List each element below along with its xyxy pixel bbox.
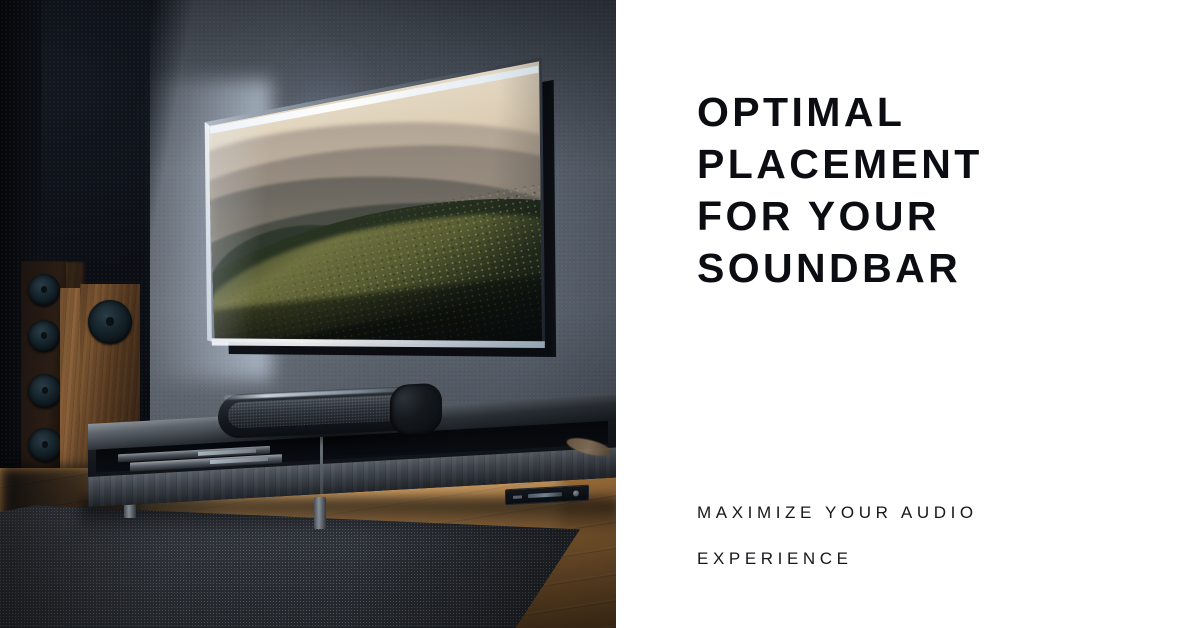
receiver-display — [528, 492, 562, 498]
text-panel: Optimal Placement for Your Soundbar Maxi… — [616, 0, 1200, 628]
wood-grain — [60, 288, 82, 488]
tower-speaker-side — [60, 288, 82, 488]
speaker-driver — [28, 274, 60, 306]
receiver-button — [513, 495, 522, 499]
page-title: Optimal Placement for Your Soundbar — [697, 86, 1167, 294]
page-subtitle: Maximize Your Audio Experience — [697, 490, 1167, 582]
console-leg — [314, 497, 326, 529]
soundbar — [218, 385, 438, 441]
room-photo — [0, 0, 616, 628]
component-display — [198, 449, 256, 456]
speaker-driver — [88, 300, 132, 344]
receiver-knob — [573, 490, 579, 496]
soundbar-end-cap — [390, 383, 442, 435]
banner: Optimal Placement for Your Soundbar Maxi… — [0, 0, 1200, 628]
component-display — [210, 457, 268, 464]
speaker-driver — [28, 428, 62, 462]
speaker-driver — [28, 374, 62, 408]
speaker-driver — [28, 320, 60, 352]
television — [196, 44, 556, 364]
